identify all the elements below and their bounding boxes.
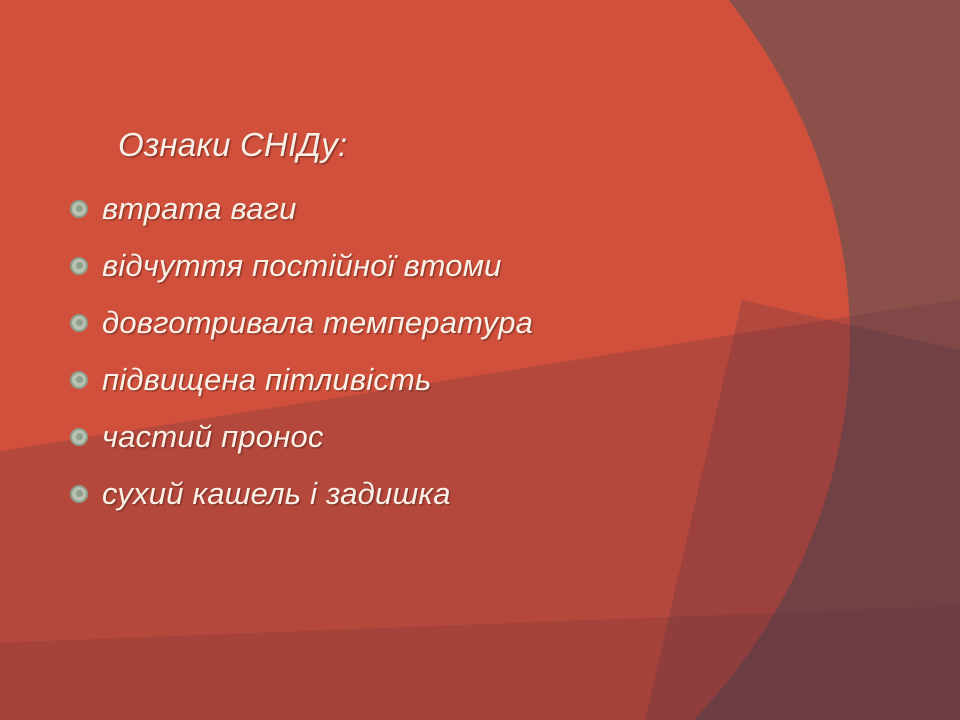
slide-content: Ознаки СНІДу: втрата ваги відчуття пості…: [0, 0, 960, 720]
target-bullet-icon: [70, 314, 88, 332]
list-item: відчуття постійної втоми: [70, 237, 930, 294]
slide-title: Ознаки СНІДу:: [118, 126, 347, 164]
list-item-label: сухий кашель і задишка: [102, 476, 451, 512]
list-item-label: підвищена пітливість: [102, 362, 432, 398]
list-item: підвищена пітливість: [70, 351, 930, 408]
list-item: довготривала температура: [70, 294, 930, 351]
target-bullet-icon: [70, 371, 88, 389]
list-item-label: довготривала температура: [102, 305, 533, 341]
target-bullet-icon: [70, 428, 88, 446]
target-bullet-icon: [70, 257, 88, 275]
list-item-label: частий пронос: [102, 419, 324, 455]
target-bullet-icon: [70, 485, 88, 503]
symptoms-bullet-list: втрата ваги відчуття постійної втоми дов…: [70, 180, 930, 522]
list-item-label: втрата ваги: [102, 191, 297, 227]
presentation-slide: Ознаки СНІДу: втрата ваги відчуття пості…: [0, 0, 960, 720]
list-item: сухий кашель і задишка: [70, 465, 930, 522]
list-item-label: відчуття постійної втоми: [102, 248, 502, 284]
target-bullet-icon: [70, 200, 88, 218]
list-item: частий пронос: [70, 408, 930, 465]
list-item: втрата ваги: [70, 180, 930, 237]
